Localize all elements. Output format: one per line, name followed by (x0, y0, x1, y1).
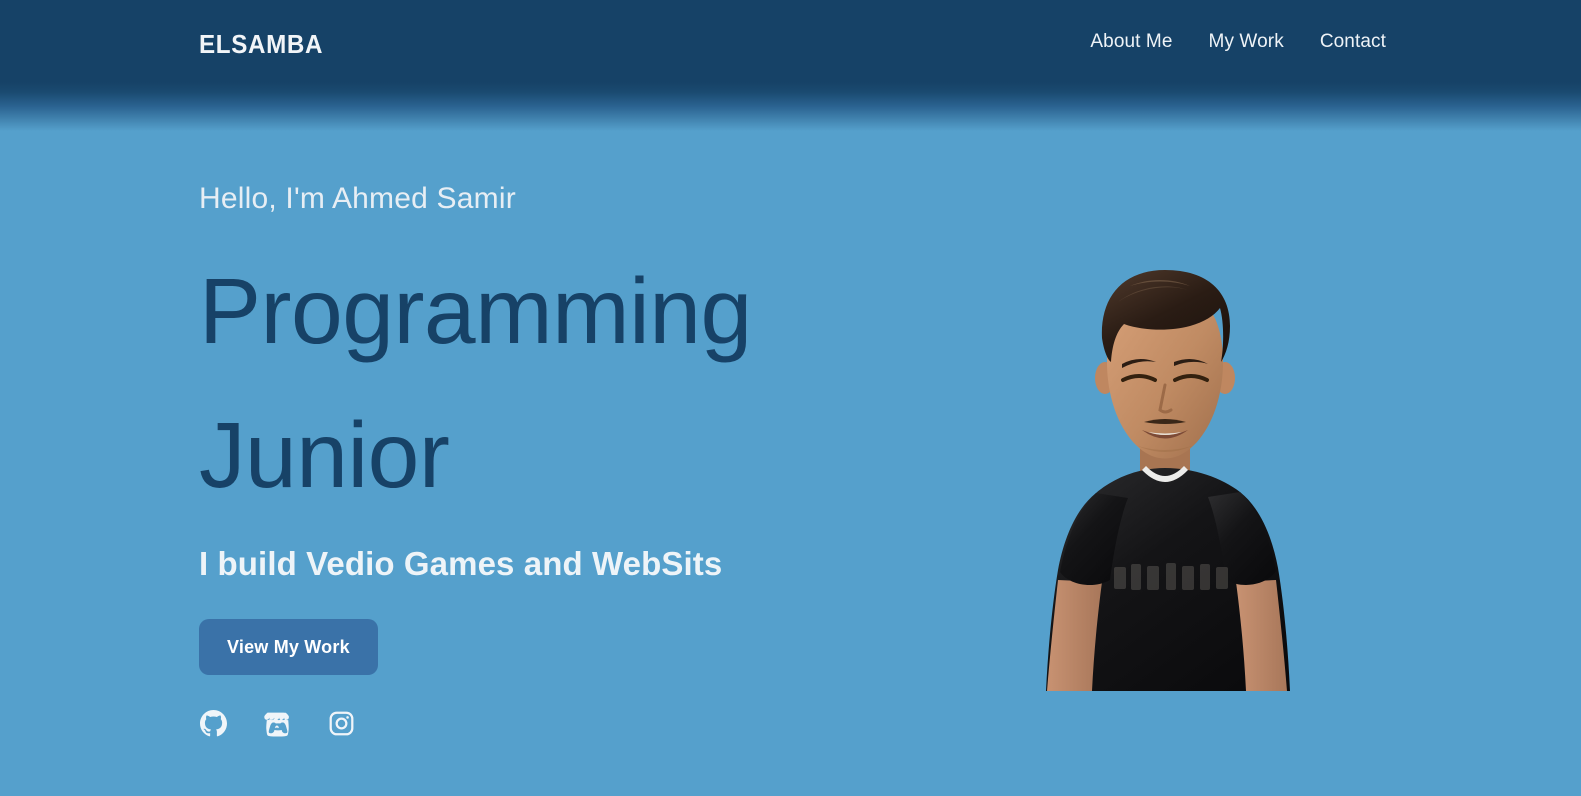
brand-logo[interactable]: ELSAMBA (199, 29, 323, 60)
page-root: ELSAMBA About Me My Work Contact Hello, … (0, 0, 1581, 796)
hero-section: Hello, I'm Ahmed Samir Programming Junio… (0, 131, 1581, 796)
nav-link-contact[interactable]: Contact (1320, 31, 1386, 53)
social-links (199, 709, 959, 737)
itchio-link[interactable] (263, 709, 291, 737)
portrait-photo (1018, 250, 1312, 691)
itchio-icon (264, 710, 291, 737)
hero-headline: Programming Junior (199, 239, 959, 527)
hero-greeting: Hello, I'm Ahmed Samir (199, 181, 959, 217)
instagram-icon (328, 710, 355, 737)
view-my-work-button[interactable]: View My Work (199, 619, 378, 675)
hero-text-block: Hello, I'm Ahmed Samir Programming Junio… (199, 181, 959, 737)
portrait-illustration (1018, 250, 1312, 691)
hero-subheadline: I build Vedio Games and WebSits (199, 545, 959, 583)
site-header: ELSAMBA About Me My Work Contact (0, 0, 1581, 131)
headline-line-2: Junior (199, 383, 959, 527)
github-icon (200, 710, 227, 737)
header-inner: ELSAMBA About Me My Work Contact (0, 0, 1581, 89)
nav-link-about-me[interactable]: About Me (1090, 31, 1172, 53)
headline-line-1: Programming (199, 239, 959, 383)
instagram-link[interactable] (327, 709, 355, 737)
main-navigation: About Me My Work Contact (1090, 31, 1386, 53)
nav-link-my-work[interactable]: My Work (1209, 31, 1284, 53)
github-link[interactable] (199, 709, 227, 737)
